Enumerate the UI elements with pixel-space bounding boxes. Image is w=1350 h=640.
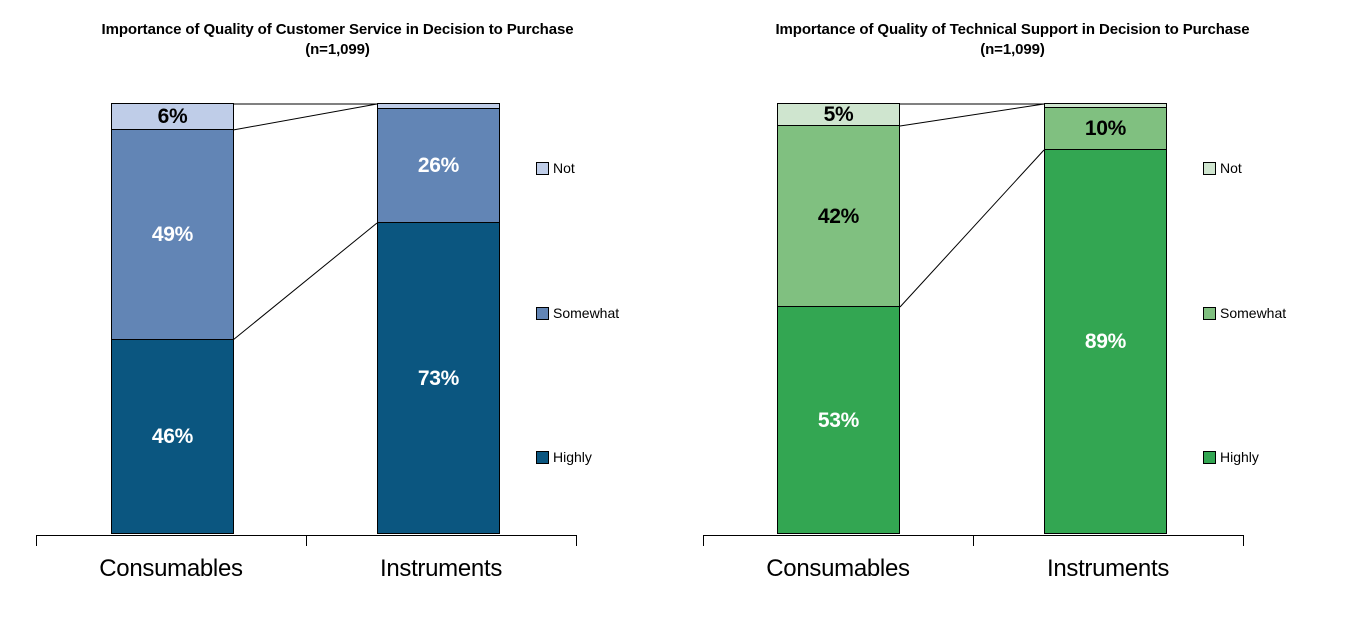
legend-swatch-somewhat-icon — [536, 307, 549, 320]
segment-highly-instruments-right[interactable]: 89% — [1044, 149, 1167, 534]
segment-label-not-consumables-right: 5% — [824, 104, 854, 125]
axis-tick-left-start — [36, 535, 37, 546]
bar-consumables-left[interactable]: 6% 49% 46% — [111, 104, 234, 535]
chart-page: Importance of Quality of Customer Servic… — [0, 0, 1350, 640]
axis-tick-right-mid — [973, 535, 974, 546]
legend-label-highly-right: Highly — [1220, 450, 1259, 464]
chart-panel-technical-support: Importance of Quality of Technical Suppo… — [675, 0, 1350, 640]
segment-not-consumables-left[interactable]: 6% — [111, 103, 234, 130]
plot-area-right: 5% 42% 53% 10% 89% — [675, 0, 1350, 640]
segment-somewhat-instruments-left[interactable]: 26% — [377, 108, 500, 223]
bar-instruments-left[interactable]: 26% 73% — [377, 104, 500, 535]
legend-label-somewhat-left: Somewhat — [553, 306, 619, 320]
legend-swatch-not-icon — [1203, 162, 1216, 175]
chart-panel-customer-service: Importance of Quality of Customer Servic… — [0, 0, 675, 640]
bar-consumables-right[interactable]: 5% 42% 53% — [777, 104, 900, 535]
segment-somewhat-instruments-right[interactable]: 10% — [1044, 107, 1167, 150]
segment-not-consumables-right[interactable]: 5% — [777, 103, 900, 126]
legend-swatch-highly-icon — [1203, 451, 1216, 464]
legend-swatch-not-icon — [536, 162, 549, 175]
legend-item-not-left[interactable]: Not — [536, 161, 575, 175]
category-label-consumables-right: Consumables — [703, 555, 973, 583]
segment-label-not-consumables-left: 6% — [158, 106, 188, 127]
segment-label-somewhat-consumables-right: 42% — [818, 206, 859, 227]
legend-swatch-somewhat-icon — [1203, 307, 1216, 320]
axis-tick-left-mid — [306, 535, 307, 546]
segment-highly-consumables-right[interactable]: 53% — [777, 306, 900, 534]
axis-tick-right-end — [1243, 535, 1244, 546]
segment-somewhat-consumables-right[interactable]: 42% — [777, 125, 900, 307]
category-label-instruments-right: Instruments — [973, 555, 1243, 583]
segment-label-highly-instruments-left: 73% — [418, 368, 459, 389]
segment-label-somewhat-instruments-left: 26% — [418, 155, 459, 176]
segment-label-highly-consumables-left: 46% — [152, 426, 193, 447]
axis-tick-right-start — [703, 535, 704, 546]
legend-label-somewhat-right: Somewhat — [1220, 306, 1286, 320]
segment-somewhat-consumables-left[interactable]: 49% — [111, 129, 234, 340]
legend-item-somewhat-left[interactable]: Somewhat — [536, 306, 619, 320]
legend-item-highly-right[interactable]: Highly — [1203, 450, 1259, 464]
legend-item-not-right[interactable]: Not — [1203, 161, 1242, 175]
segment-label-highly-consumables-right: 53% — [818, 410, 859, 431]
segment-highly-instruments-left[interactable]: 73% — [377, 222, 500, 534]
legend-item-highly-left[interactable]: Highly — [536, 450, 592, 464]
segment-label-somewhat-instruments-right: 10% — [1085, 118, 1126, 139]
legend-swatch-highly-icon — [536, 451, 549, 464]
category-label-consumables-left: Consumables — [36, 555, 306, 583]
plot-area-left: 6% 49% 46% 26% 73% — [0, 0, 675, 640]
axis-tick-left-end — [576, 535, 577, 546]
legend-label-not-left: Not — [553, 161, 575, 175]
legend-label-not-right: Not — [1220, 161, 1242, 175]
segment-label-somewhat-consumables-left: 49% — [152, 224, 193, 245]
bar-instruments-right[interactable]: 10% 89% — [1044, 104, 1167, 535]
segment-label-highly-instruments-right: 89% — [1085, 331, 1126, 352]
legend-label-highly-left: Highly — [553, 450, 592, 464]
legend-item-somewhat-right[interactable]: Somewhat — [1203, 306, 1286, 320]
segment-highly-consumables-left[interactable]: 46% — [111, 339, 234, 534]
category-label-instruments-left: Instruments — [306, 555, 576, 583]
